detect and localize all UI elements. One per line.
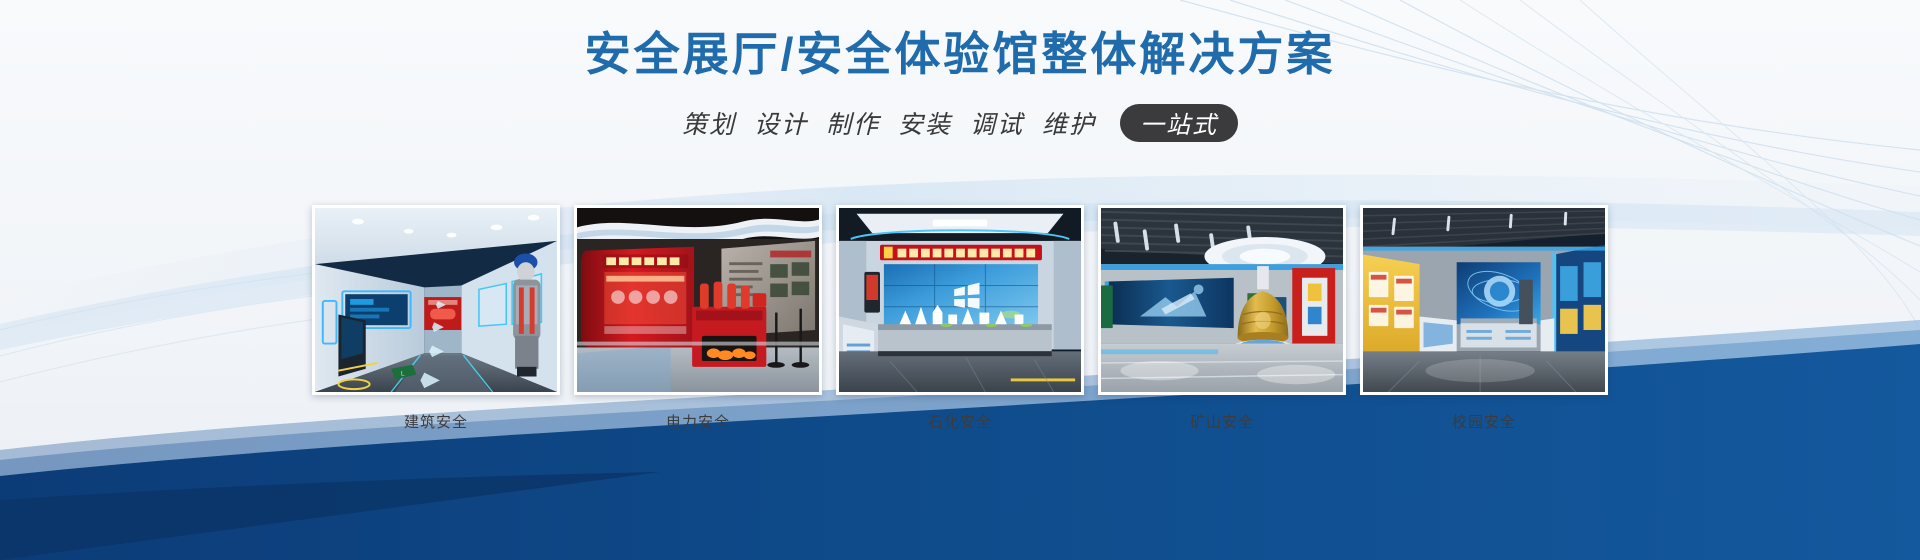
svg-text:L: L <box>401 371 405 378</box>
construction-safety-image: L <box>315 208 557 392</box>
gallery-card-3[interactable]: 石化安全 <box>836 205 1084 432</box>
page-title: 安全展厅/安全体验馆整体解决方案 <box>0 26 1920 84</box>
gallery-caption-4: 矿山安全 <box>1098 411 1346 432</box>
subtitle-word-1: 策划 <box>682 105 736 141</box>
subtitle-row: 策划 设计 制作 安装 调试 维护 一站式 <box>0 104 1920 142</box>
gallery-thumb-construction-safety[interactable]: L <box>312 205 560 395</box>
banner-root: 安全展厅/安全体验馆整体解决方案 策划 设计 制作 安装 调试 维护 一站式 <box>0 0 1920 560</box>
subtitle-word-3: 制作 <box>826 105 880 141</box>
gallery-caption-2: 电力安全 <box>574 411 822 432</box>
gallery-thumb-power-safety[interactable] <box>574 205 822 395</box>
gallery-card-2[interactable]: 电力安全 <box>574 205 822 432</box>
gallery-thumb-petrochemical-safety[interactable] <box>836 205 1084 395</box>
gallery-card-1[interactable]: L 建筑安全 <box>312 205 560 432</box>
subtitle-word-6: 维护 <box>1042 105 1096 141</box>
gallery-card-5[interactable]: 校园安全 <box>1360 205 1608 432</box>
subtitle-word-4: 安装 <box>898 105 952 141</box>
campus-safety-image <box>1363 208 1605 392</box>
gallery-caption-1: 建筑安全 <box>312 411 560 432</box>
subtitle-word-5: 调试 <box>970 105 1024 141</box>
petrochemical-safety-image <box>839 208 1081 392</box>
gallery-thumb-mine-safety[interactable] <box>1098 205 1346 395</box>
gallery-card-4[interactable]: 矿山安全 <box>1098 205 1346 432</box>
subtitle-word-2: 设计 <box>754 105 808 141</box>
gallery-caption-5: 校园安全 <box>1360 411 1608 432</box>
gallery: L 建筑安全 <box>0 205 1920 432</box>
gallery-thumb-campus-safety[interactable] <box>1360 205 1608 395</box>
gallery-caption-3: 石化安全 <box>836 411 1084 432</box>
headline-block: 安全展厅/安全体验馆整体解决方案 策划 设计 制作 安装 调试 维护 一站式 <box>0 26 1920 142</box>
one-stop-badge: 一站式 <box>1120 104 1238 142</box>
power-safety-image <box>577 208 819 392</box>
mine-safety-image <box>1101 208 1343 392</box>
